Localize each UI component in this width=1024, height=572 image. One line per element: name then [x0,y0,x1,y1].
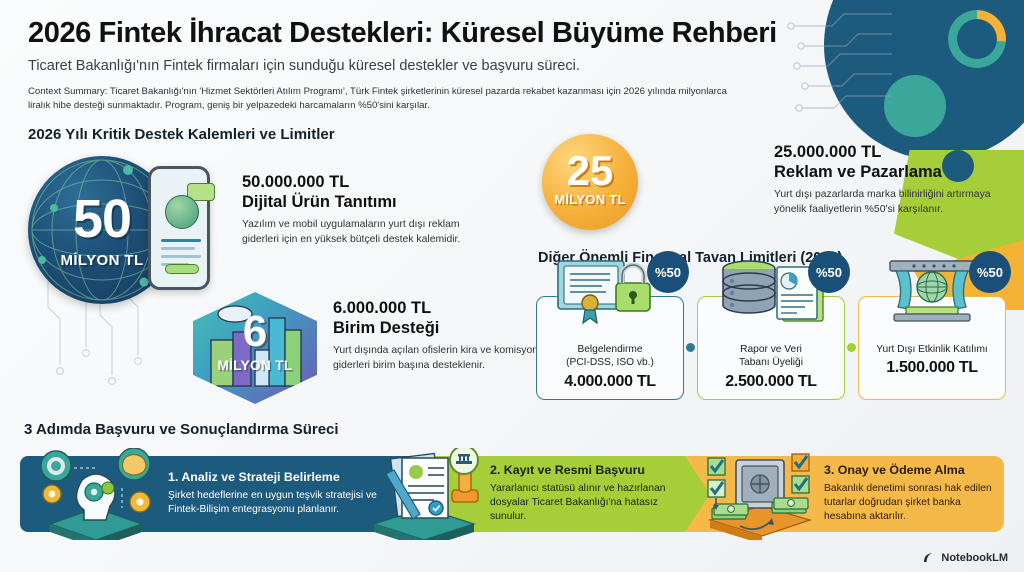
highlight-badge-unit: MİLYON TL [193,358,317,373]
highlight-badge-number: 25 [542,150,638,192]
highlight-description: Yazılım ve mobil uygulamaların yurt dışı… [242,218,492,248]
process-step-3: 3. Onay ve Ödeme Alma Bakanlık denetimi … [692,448,1004,540]
phone-button-icon [165,264,199,274]
decorative-donut-ring [948,10,1006,68]
limit-card-value: 1.500.000 TL [864,359,1000,377]
context-summary: Context Summary: Ticaret Bakanlığı'nın '… [28,85,728,114]
small-globe-icon [165,195,199,229]
percentage-badge: %50 [969,251,1011,293]
step-title: 2. Kayıt ve Resmi Başvuru [490,463,690,479]
footer-brand-label: NotebookLM [941,552,1008,564]
limit-card-caption-line1: Belgelendirme [542,343,678,356]
highlight-text: 25.000.000 TL Reklam ve Pazarlama Yurt d… [774,130,1008,218]
infographic-canvas: 2026 Fintek İhracat Destekleri: Küresel … [0,0,1024,572]
limit-cards-group: %50 Belgelendirme (PCI-DSS, ISO vb.) 4.0… [536,296,1014,400]
decorative-teal-circle [884,75,946,137]
hexagon-shape: 6 MİLYON TL [193,292,317,404]
percentage-badge: %50 [808,251,850,293]
section-heading-limits: 2026 Yılı Kritik Destek Kalemleri ve Lim… [28,126,335,143]
step-description: Bakanlık denetimi sonrası hak edilen tut… [824,482,1004,525]
highlight-badge-unit: MİLYON TL [542,192,638,207]
globe-phone-icon: 50 MİLYON TL [20,148,242,308]
safe-money-icon [692,448,824,540]
notebooklm-icon [923,551,936,564]
city-hexagon-icon: 6 MİLYON TL [185,288,333,408]
highlight-description: Yurt dışı pazarlarda marka bilinirliğini… [774,188,1008,218]
limit-card-value: 4.000.000 TL [542,373,678,391]
limit-card-caption-line1: Yurt Dışı Etkinlik Katılımı [864,343,1000,356]
highlight-amount: 50.000.000 TL [242,172,492,192]
limit-card-certification: %50 Belgelendirme (PCI-DSS, ISO vb.) 4.0… [536,296,684,400]
highlight-name: Birim Desteği [333,318,543,338]
gold-coin-icon: 25 MİLYON TL [538,130,648,238]
page-subtitle: Ticaret Bakanlığı'nın Fintek firmaları i… [28,58,878,74]
highlight-badge-number: 6 [193,310,317,354]
card-connector-1 [684,296,697,400]
highlight-digital-product: 50 MİLYON TL 50.000.000 TL Dijital Ürün … [20,148,520,308]
step-title: 1. Analiz ve Strateji Belirleme [168,470,380,486]
limit-card-event: %50 Yurt Dışı Etkinlik Katılımı 1.500.00… [858,296,1006,400]
step-description: Şirket hedeflerine en uygun teşvik strat… [168,489,380,518]
section-heading-steps: 3 Adımda Başvuru ve Sonuçlandırma Süreci [24,421,339,438]
step-text: 1. Analiz ve Strateji Belirleme Şirket h… [168,470,380,517]
highlight-description: Yurt dışında açılan ofislerin kira ve ko… [333,344,543,374]
document-stamp-icon [360,448,490,540]
limit-card-database: %50 Rapor ve Veri Tabanı Üyeliği 2.500.0… [697,296,845,400]
highlight-amount: 6.000.000 TL [333,298,543,318]
step-text: 3. Onay ve Ödeme Alma Bakanlık denetimi … [824,463,1004,525]
limit-card-caption-line2: (PCI-DSS, ISO vb.) [542,356,678,369]
card-connector-2 [845,296,858,400]
highlight-name: Reklam ve Pazarlama [774,162,1008,182]
coin-shape: 25 MİLYON TL [542,134,638,230]
step-title: 3. Onay ve Ödeme Alma [824,463,1004,479]
process-step-2: 2. Kayıt ve Resmi Başvuru Yararlanıcı st… [360,448,690,540]
highlight-advertising: 25 MİLYON TL 25.000.000 TL Reklam ve Paz… [538,130,1008,238]
footer-brand: NotebookLM [923,551,1008,564]
process-step-1: 1. Analiz ve Strateji Belirleme Şirket h… [28,448,380,540]
header: 2026 Fintek İhracat Destekleri: Küresel … [28,18,878,114]
limit-card-value: 2.500.000 TL [703,373,839,391]
highlight-text: 50.000.000 TL Dijital Ürün Tanıtımı Yazı… [242,148,492,248]
brain-gears-icon [28,448,168,540]
page-title: 2026 Fintek İhracat Destekleri: Küresel … [28,18,878,50]
step-description: Yararlanıcı statüsü alınır ve hazırlanan… [490,482,690,525]
percentage-badge: %50 [647,251,689,293]
limit-card-caption-line2: Tabanı Üyeliği [703,356,839,369]
step-text: 2. Kayıt ve Resmi Başvuru Yararlanıcı st… [490,463,690,525]
highlight-text: 6.000.000 TL Birim Desteği Yurt dışında … [333,288,543,374]
phone-shape [148,166,210,290]
highlight-name: Dijital Ürün Tanıtımı [242,192,492,212]
highlight-amount: 25.000.000 TL [774,142,1008,162]
limit-card-caption-line1: Rapor ve Veri [703,343,839,356]
process-steps-group: 1. Analiz ve Strateji Belirleme Şirket h… [20,448,1004,540]
